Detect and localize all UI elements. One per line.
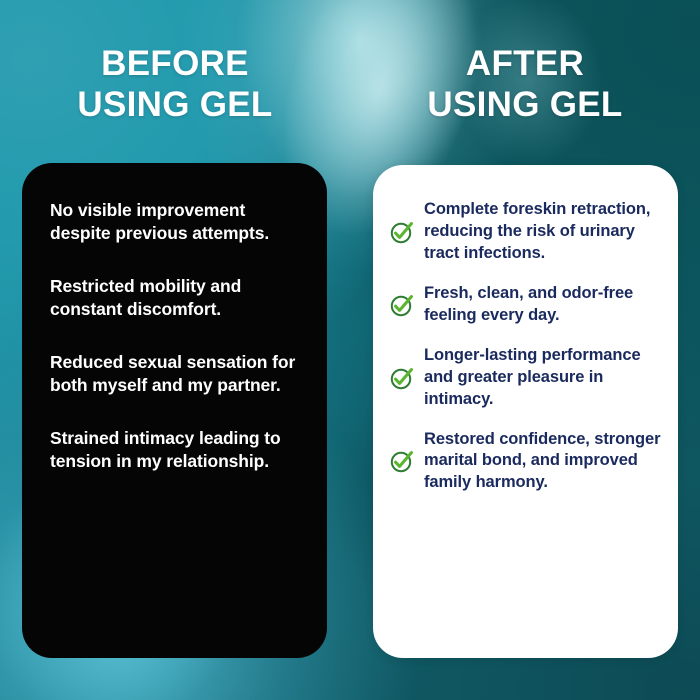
before-list: No visible improvement despite previous … [50, 199, 307, 474]
list-item: Longer-lasting performance and greater p… [389, 345, 664, 411]
list-item-label: Longer-lasting performance and greater p… [424, 345, 664, 411]
circle-check-icon [389, 292, 415, 318]
after-list: Complete foreskin retraction, reducing t… [389, 199, 664, 494]
before-card: No visible improvement despite previous … [22, 163, 327, 658]
comparison-poster: BEFORE USING GEL No visible improvement … [0, 0, 700, 700]
list-item: Fresh, clean, and odor-free feeling ever… [389, 283, 664, 327]
circle-check-icon [389, 365, 415, 391]
after-heading-line-2: USING GEL [350, 85, 700, 126]
after-heading-line-1: AFTER [350, 44, 700, 85]
list-item-label: Restored confidence, stronger marital bo… [424, 429, 664, 495]
list-item: No visible improvement despite previous … [50, 199, 307, 246]
after-card: Complete foreskin retraction, reducing t… [373, 165, 678, 658]
before-heading-line-1: BEFORE [0, 44, 350, 85]
after-heading: AFTER USING GEL [350, 44, 700, 126]
before-heading: BEFORE USING GEL [0, 44, 350, 126]
list-item: Reduced sexual sensation for both myself… [50, 351, 307, 398]
after-column: AFTER USING GEL Complete foreskin retrac… [350, 0, 700, 700]
list-item-label: Complete foreskin retraction, reducing t… [424, 199, 664, 265]
before-column: BEFORE USING GEL No visible improvement … [0, 0, 350, 700]
before-heading-line-2: USING GEL [0, 85, 350, 126]
list-item-label: Fresh, clean, and odor-free feeling ever… [424, 283, 664, 327]
list-item: Strained intimacy leading to tension in … [50, 427, 307, 474]
list-item: Complete foreskin retraction, reducing t… [389, 199, 664, 265]
circle-check-icon [389, 219, 415, 245]
list-item: Restored confidence, stronger marital bo… [389, 429, 664, 495]
circle-check-icon [389, 448, 415, 474]
list-item: Restricted mobility and constant discomf… [50, 275, 307, 322]
